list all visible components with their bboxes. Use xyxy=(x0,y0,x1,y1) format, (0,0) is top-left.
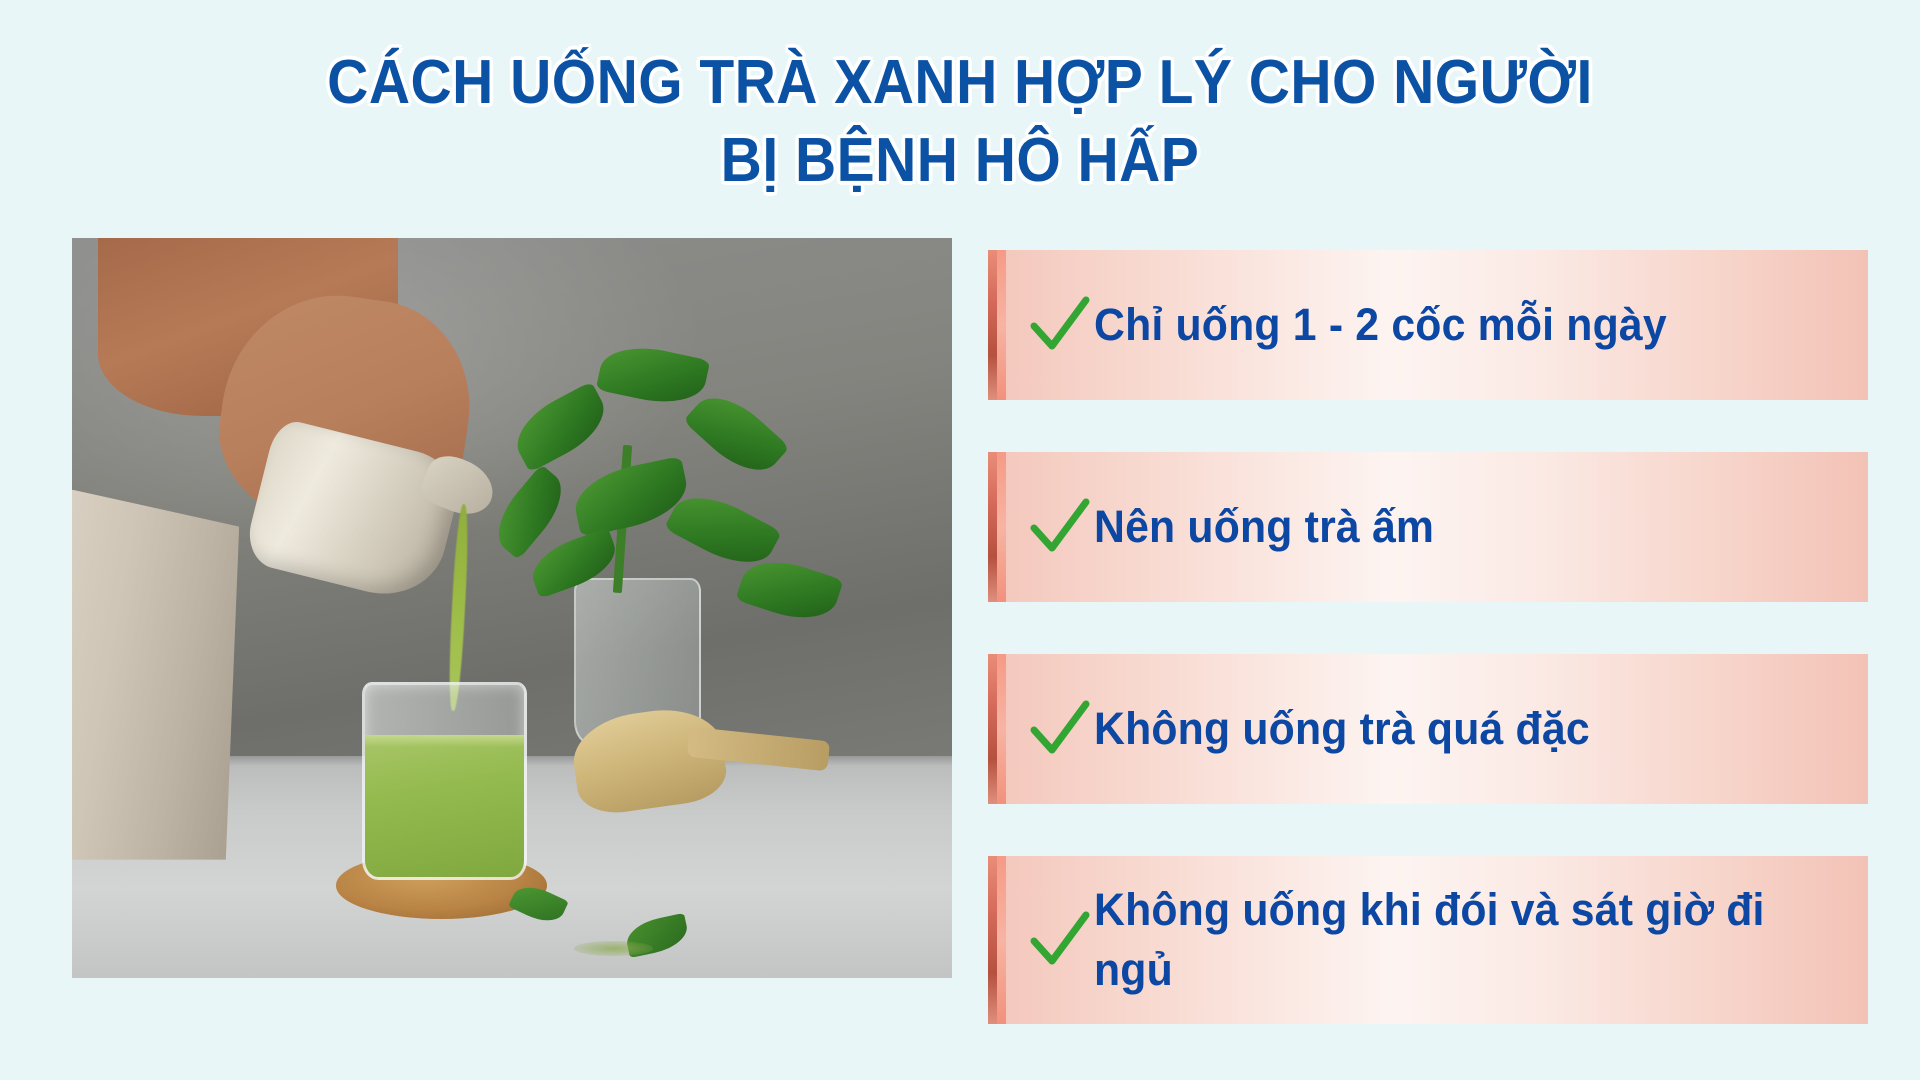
matcha-pouring-photo xyxy=(72,238,952,978)
check-icon xyxy=(1026,296,1094,354)
list-item-label: Không uống khi đói và sát giờ đi ngủ xyxy=(1094,880,1820,1000)
photo-scene xyxy=(72,238,952,978)
check-icon xyxy=(1026,700,1094,758)
title-line-1: CÁCH UỐNG TRÀ XANH HỢP LÝ CHO NGƯỜI xyxy=(77,44,1843,122)
list-item-label: Nên uống trà ấm xyxy=(1094,497,1820,557)
check-icon xyxy=(1026,911,1094,969)
advice-checklist: Chỉ uống 1 - 2 cốc mỗi ngày Nên uống trà… xyxy=(988,250,1868,1076)
photo-drinking-glass xyxy=(362,682,526,880)
list-item-label: Không uống trà quá đặc xyxy=(1094,699,1820,759)
list-item: Không uống khi đói và sát giờ đi ngủ xyxy=(988,856,1868,1024)
list-item: Không uống trà quá đặc xyxy=(988,654,1868,804)
photo-matcha-powder xyxy=(574,941,653,956)
list-item-label: Chỉ uống 1 - 2 cốc mỗi ngày xyxy=(1094,295,1820,355)
check-icon xyxy=(1026,498,1094,556)
photo-linen-cloth xyxy=(72,490,239,860)
photo-matcha-liquid xyxy=(365,735,523,877)
title-line-2: BỊ BỆNH HÔ HẤP xyxy=(77,122,1843,200)
list-item: Nên uống trà ấm xyxy=(988,452,1868,602)
page-title: CÁCH UỐNG TRÀ XANH HỢP LÝ CHO NGƯỜI BỊ B… xyxy=(0,44,1920,200)
list-item: Chỉ uống 1 - 2 cốc mỗi ngày xyxy=(988,250,1868,400)
